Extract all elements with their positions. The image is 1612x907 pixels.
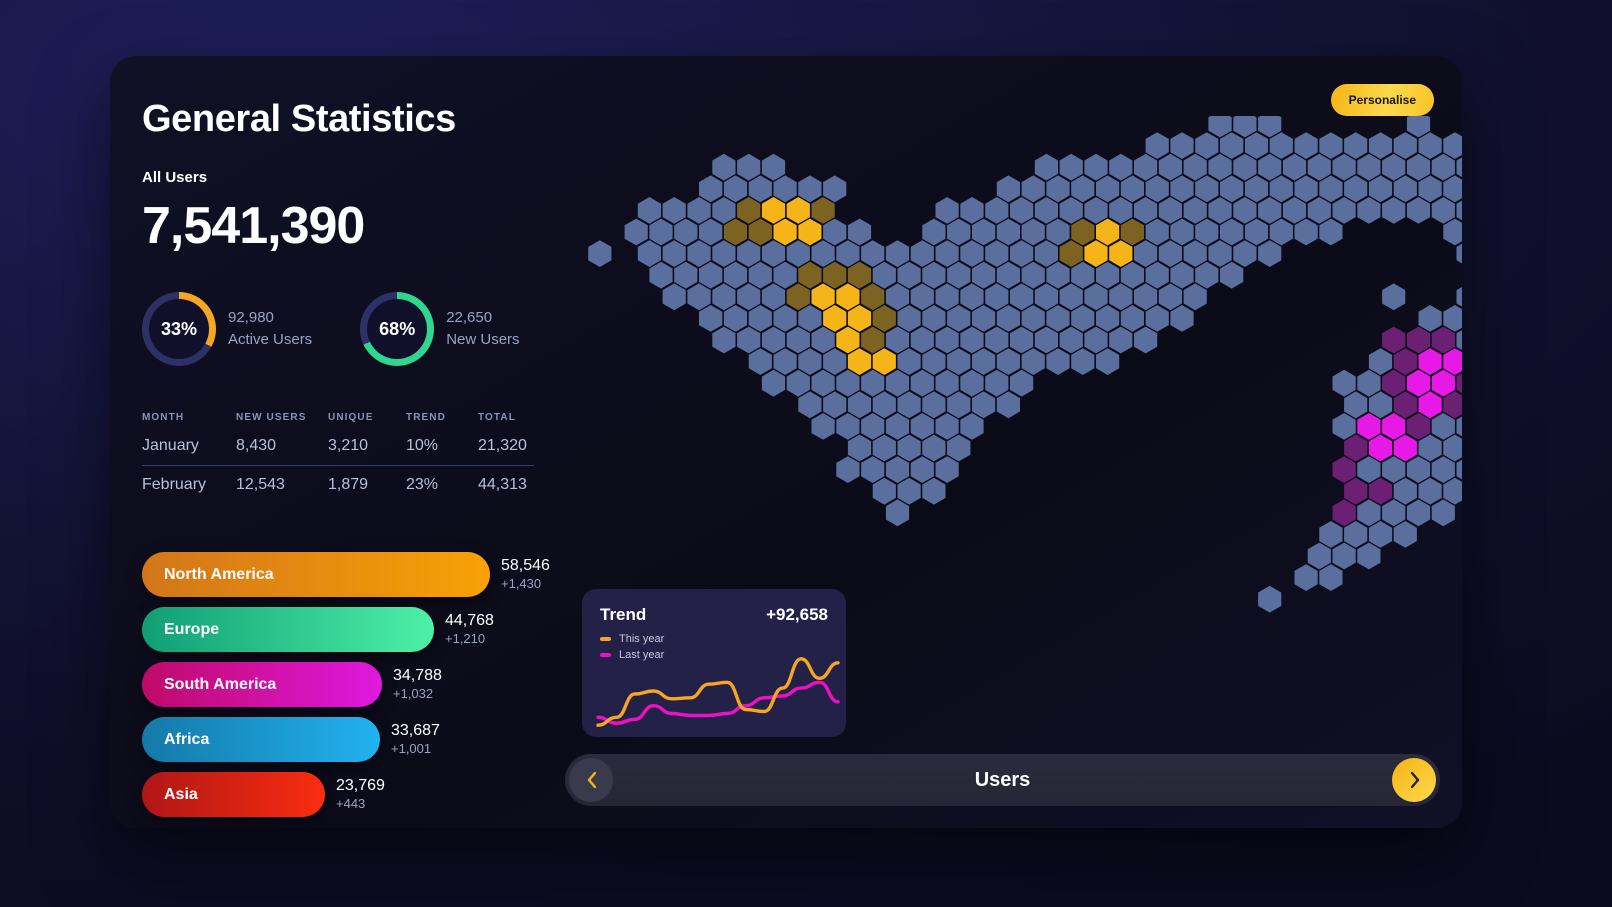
map-hex xyxy=(1084,283,1107,310)
map-hex xyxy=(947,348,970,375)
map-hex xyxy=(911,413,934,440)
map-hex xyxy=(1333,197,1356,224)
map-hex xyxy=(1010,370,1033,397)
map-hex xyxy=(960,283,983,310)
gauge-caption: New Users xyxy=(446,329,519,351)
map-hex xyxy=(1146,262,1169,289)
map-hex xyxy=(1357,154,1380,181)
map-hex xyxy=(1184,283,1207,310)
table-body: January8,4303,21010%21,320February12,543… xyxy=(142,432,534,499)
map-hex xyxy=(1443,175,1462,202)
map-hex xyxy=(1319,564,1342,591)
map-hex-highlight xyxy=(1333,456,1356,483)
map-hex xyxy=(1060,283,1083,310)
map-hex xyxy=(798,305,821,332)
map-hex xyxy=(936,197,959,224)
map-hex xyxy=(1382,154,1405,181)
map-hex xyxy=(1258,240,1281,267)
map-hex xyxy=(1170,262,1193,289)
map-hex xyxy=(798,175,821,202)
map-hex-highlight xyxy=(812,283,835,310)
map-hex xyxy=(1233,116,1256,137)
cell-month: January xyxy=(142,432,236,466)
map-hex-highlight xyxy=(1382,370,1405,397)
map-hex xyxy=(1357,499,1380,526)
map-hex-highlight xyxy=(873,348,896,375)
map-hex xyxy=(1010,327,1033,354)
region-delta: +1,210 xyxy=(445,631,494,647)
map-hex xyxy=(1333,154,1356,181)
map-hex xyxy=(848,219,871,246)
map-hex xyxy=(823,348,846,375)
map-hex xyxy=(873,435,896,462)
map-hex xyxy=(873,262,896,289)
map-hex xyxy=(724,262,747,289)
map-hex xyxy=(1208,116,1231,137)
map-hex xyxy=(1443,219,1462,246)
gauge-meta: 92,980Active Users xyxy=(228,307,312,351)
map-hex xyxy=(1344,391,1367,418)
map-hex-highlight xyxy=(1407,370,1430,397)
map-hex xyxy=(972,305,995,332)
map-hex xyxy=(1419,132,1442,159)
region-values: 34,788+1,032 xyxy=(393,666,442,702)
gauge-group: 33%92,980Active Users68%22,650New Users xyxy=(142,292,572,366)
map-hex xyxy=(625,219,648,246)
map-hex-highlight xyxy=(1071,219,1094,246)
map-hex xyxy=(1394,175,1417,202)
map-hex xyxy=(823,219,846,246)
map-hex xyxy=(1208,197,1231,224)
map-hex-highlight xyxy=(1109,240,1132,267)
map-hex xyxy=(1457,283,1463,310)
map-hex xyxy=(898,478,921,505)
map-hex xyxy=(873,391,896,418)
map-hex xyxy=(1344,521,1367,548)
gauge-new-users: 68%22,650New Users xyxy=(360,292,519,366)
region-bar: Asia xyxy=(142,772,325,817)
bottom-nav-bar: Users xyxy=(565,754,1440,806)
nav-next-button[interactable] xyxy=(1392,758,1436,802)
map-hex xyxy=(1233,197,1256,224)
map-hex xyxy=(997,348,1020,375)
region-total: 34,788 xyxy=(393,666,442,686)
map-hex xyxy=(836,240,859,267)
map-hex xyxy=(1109,197,1132,224)
region-row[interactable]: South America34,788+1,032 xyxy=(142,661,572,708)
gauge-percent-label: 33% xyxy=(161,319,197,340)
map-hex xyxy=(1457,240,1463,267)
map-hex xyxy=(1195,132,1218,159)
map-hex-highlight xyxy=(1084,240,1107,267)
cell-unique: 1,879 xyxy=(328,466,406,500)
map-hex xyxy=(1109,154,1132,181)
map-hex-highlight xyxy=(1060,240,1083,267)
map-hex xyxy=(1146,305,1169,332)
map-hex xyxy=(936,327,959,354)
map-hex-highlight xyxy=(1344,435,1367,462)
map-hex xyxy=(687,197,710,224)
map-hex xyxy=(1060,197,1083,224)
map-hex xyxy=(1022,175,1045,202)
map-hex xyxy=(798,348,821,375)
map-hex xyxy=(1195,175,1218,202)
map-hex-highlight xyxy=(1369,478,1392,505)
map-hex xyxy=(699,175,722,202)
map-hex-highlight xyxy=(1457,370,1463,397)
map-hex xyxy=(972,391,995,418)
map-hex-highlight xyxy=(1096,219,1119,246)
map-hex xyxy=(985,240,1008,267)
map-hex xyxy=(1270,175,1293,202)
map-hex xyxy=(1333,413,1356,440)
map-hex-highlight xyxy=(1394,435,1417,462)
map-hex xyxy=(1233,240,1256,267)
map-hex xyxy=(1382,197,1405,224)
map-hex xyxy=(1457,327,1463,354)
map-hex xyxy=(1096,348,1119,375)
cell-total: 44,313 xyxy=(478,466,534,500)
map-hex xyxy=(762,283,785,310)
map-hex xyxy=(1109,327,1132,354)
map-hex xyxy=(1071,262,1094,289)
map-hex xyxy=(1184,240,1207,267)
map-hex xyxy=(663,197,686,224)
map-hex xyxy=(588,240,611,267)
map-hex-highlight xyxy=(836,283,859,310)
table-row: February12,5431,87923%44,313 xyxy=(142,466,534,500)
map-hex-highlight xyxy=(812,197,835,224)
map-hex-highlight xyxy=(861,283,884,310)
map-hex xyxy=(1432,456,1455,483)
map-hex xyxy=(1071,175,1094,202)
map-hex xyxy=(1245,219,1268,246)
gauge-percent-label: 68% xyxy=(379,319,415,340)
map-hex xyxy=(749,348,772,375)
map-hex xyxy=(687,240,710,267)
map-hex-highlight xyxy=(1432,327,1455,354)
map-hex xyxy=(1184,197,1207,224)
map-hex xyxy=(1134,283,1157,310)
map-hex xyxy=(1134,197,1157,224)
map-hex xyxy=(898,348,921,375)
map-hex xyxy=(1308,197,1331,224)
map-hex xyxy=(687,283,710,310)
all-users-value: 7,541,390 xyxy=(142,196,572,256)
map-hex-highlight xyxy=(861,327,884,354)
map-hex xyxy=(911,327,934,354)
map-hex xyxy=(1245,175,1268,202)
map-hex xyxy=(1195,262,1218,289)
map-hex xyxy=(1407,499,1430,526)
map-hex xyxy=(1084,154,1107,181)
gauge-active-users: 33%92,980Active Users xyxy=(142,292,312,366)
region-bar: Africa xyxy=(142,717,380,762)
region-delta: +1,430 xyxy=(501,576,550,592)
map-hex xyxy=(922,391,945,418)
map-hex xyxy=(1245,132,1268,159)
map-hex xyxy=(1022,348,1045,375)
map-hex-highlight xyxy=(749,219,772,246)
map-hex xyxy=(922,435,945,462)
nav-prev-button[interactable] xyxy=(569,758,613,802)
map-hex xyxy=(997,305,1020,332)
map-hex-highlight xyxy=(823,305,846,332)
region-values: 44,768+1,210 xyxy=(445,611,494,647)
map-hex xyxy=(898,262,921,289)
map-hex xyxy=(812,413,835,440)
trend-line-last-year xyxy=(598,682,838,723)
map-hex xyxy=(873,478,896,505)
map-hex xyxy=(922,478,945,505)
map-hex xyxy=(649,219,672,246)
map-hex xyxy=(1170,219,1193,246)
bottom-nav-title: Users xyxy=(975,769,1031,792)
map-hex-highlight xyxy=(836,327,859,354)
map-hex xyxy=(1419,305,1442,332)
map-hex xyxy=(1382,456,1405,483)
map-hex xyxy=(911,240,934,267)
map-hex xyxy=(1170,305,1193,332)
map-hex-highlight xyxy=(1432,370,1455,397)
cell-trend: 23% xyxy=(406,466,478,500)
cell-new-users: 8,430 xyxy=(236,432,328,466)
map-hex xyxy=(1046,219,1069,246)
gauge-meta: 22,650New Users xyxy=(446,307,519,351)
map-hex xyxy=(774,262,797,289)
map-hex xyxy=(1443,305,1462,332)
map-hex xyxy=(1419,435,1442,462)
map-hex xyxy=(674,219,697,246)
map-hex xyxy=(812,240,835,267)
map-hex-highlight xyxy=(1407,327,1430,354)
map-hex-highlight xyxy=(1344,478,1367,505)
map-hex xyxy=(774,175,797,202)
map-hex xyxy=(1159,283,1182,310)
map-hex xyxy=(699,219,722,246)
map-hex xyxy=(960,370,983,397)
map-hex-highlight xyxy=(1443,391,1462,418)
map-hex xyxy=(898,391,921,418)
map-hex xyxy=(922,219,945,246)
map-hex xyxy=(922,262,945,289)
map-hex xyxy=(787,327,810,354)
map-hex xyxy=(997,391,1020,418)
map-hex xyxy=(1295,132,1318,159)
map-hex xyxy=(947,391,970,418)
map-hex xyxy=(1432,154,1455,181)
map-hex xyxy=(1184,154,1207,181)
map-hex-highlight xyxy=(823,262,846,289)
map-hex xyxy=(1369,348,1392,375)
map-hex xyxy=(663,283,686,310)
map-hex xyxy=(836,456,859,483)
map-hex xyxy=(886,283,909,310)
map-hex xyxy=(774,348,797,375)
map-hex xyxy=(1258,154,1281,181)
map-hex xyxy=(947,219,970,246)
map-hex xyxy=(1220,262,1243,289)
map-hex xyxy=(1419,478,1442,505)
map-hex xyxy=(936,283,959,310)
map-hex xyxy=(960,327,983,354)
map-hex-highlight xyxy=(873,305,896,332)
map-hex xyxy=(1457,154,1463,181)
region-bar: Europe xyxy=(142,607,434,652)
map-hex xyxy=(1010,283,1033,310)
map-hex xyxy=(712,327,735,354)
map-hex xyxy=(1096,305,1119,332)
region-bar-chart: North America58,546+1,430Europe44,768+1,… xyxy=(142,551,572,818)
map-hex xyxy=(1319,132,1342,159)
map-hex xyxy=(1022,262,1045,289)
region-row[interactable]: Africa33,687+1,001 xyxy=(142,716,572,763)
region-delta: +443 xyxy=(336,796,385,812)
map-hex xyxy=(836,370,859,397)
map-hex xyxy=(1357,197,1380,224)
map-hex xyxy=(1035,154,1058,181)
region-total: 23,769 xyxy=(336,776,385,796)
map-hex xyxy=(1457,456,1463,483)
column-header: TOTAL xyxy=(478,412,534,432)
map-hex xyxy=(898,435,921,462)
map-hex xyxy=(1394,132,1417,159)
map-hex xyxy=(911,456,934,483)
map-hex xyxy=(1308,543,1331,570)
map-hex xyxy=(823,175,846,202)
personalise-button[interactable]: Personalise xyxy=(1331,84,1434,116)
map-hex xyxy=(985,327,1008,354)
map-hex xyxy=(960,413,983,440)
cell-total: 21,320 xyxy=(478,432,534,466)
map-hex xyxy=(724,175,747,202)
map-hex xyxy=(960,240,983,267)
map-hex xyxy=(674,262,697,289)
map-hex xyxy=(836,413,859,440)
gauge-ring: 33% xyxy=(142,292,216,366)
cell-unique: 3,210 xyxy=(328,432,406,466)
map-hex xyxy=(1394,478,1417,505)
map-hex xyxy=(1096,175,1119,202)
map-hex xyxy=(1457,197,1463,224)
map-hex xyxy=(812,327,835,354)
cell-trend: 10% xyxy=(406,432,478,466)
map-hex xyxy=(1071,348,1094,375)
map-hex-highlight xyxy=(848,262,871,289)
map-hex xyxy=(947,305,970,332)
map-hex xyxy=(1258,586,1281,613)
region-row[interactable]: Europe44,768+1,210 xyxy=(142,606,572,653)
region-values: 23,769+443 xyxy=(336,776,385,812)
map-hex-highlight xyxy=(762,197,785,224)
map-hex xyxy=(947,435,970,462)
map-hex-highlight xyxy=(1382,413,1405,440)
map-hex xyxy=(1060,327,1083,354)
map-hex xyxy=(1295,219,1318,246)
map-hex xyxy=(1407,456,1430,483)
map-hex xyxy=(737,154,760,181)
map-hex xyxy=(1283,154,1306,181)
map-hex xyxy=(1010,240,1033,267)
map-hex-highlight xyxy=(1333,499,1356,526)
map-hex xyxy=(712,154,735,181)
monthly-stats-table: MONTHNEW USERSUNIQUETRENDTOTAL January8,… xyxy=(142,412,534,499)
map-hex xyxy=(749,305,772,332)
map-hex xyxy=(947,262,970,289)
map-hex xyxy=(1443,132,1462,159)
map-hex xyxy=(1443,478,1462,505)
map-hex xyxy=(712,283,735,310)
map-hex xyxy=(749,262,772,289)
map-hex xyxy=(1270,219,1293,246)
map-hex xyxy=(1022,219,1045,246)
map-hex xyxy=(886,456,909,483)
map-hex xyxy=(985,197,1008,224)
map-hex xyxy=(1096,262,1119,289)
map-hex xyxy=(1369,521,1392,548)
map-hex-highlight xyxy=(798,219,821,246)
map-hex xyxy=(1319,219,1342,246)
map-hex xyxy=(1010,197,1033,224)
map-hex xyxy=(1419,175,1442,202)
map-hex xyxy=(886,370,909,397)
map-hex xyxy=(886,240,909,267)
map-hex xyxy=(1394,521,1417,548)
map-hex xyxy=(985,283,1008,310)
map-hex xyxy=(1357,456,1380,483)
map-hex xyxy=(1159,154,1182,181)
map-hex xyxy=(1344,132,1367,159)
map-hex xyxy=(699,262,722,289)
map-hex xyxy=(1121,175,1144,202)
region-values: 58,546+1,430 xyxy=(501,556,550,592)
map-hex xyxy=(749,175,772,202)
map-hex xyxy=(1357,543,1380,570)
map-hex-highlight xyxy=(1382,327,1405,354)
map-hex-highlight xyxy=(848,305,871,332)
map-hex xyxy=(972,219,995,246)
map-hex xyxy=(886,499,909,526)
map-hex xyxy=(1220,132,1243,159)
region-row[interactable]: Asia23,769+443 xyxy=(142,771,572,818)
map-hex-highlight xyxy=(848,348,871,375)
map-hex-highlight xyxy=(787,283,810,310)
map-hex xyxy=(1146,175,1169,202)
map-hex xyxy=(1035,283,1058,310)
gauge-caption: Active Users xyxy=(228,329,312,351)
table-row: January8,4303,21010%21,320 xyxy=(142,432,534,466)
map-hex xyxy=(762,240,785,267)
map-hex xyxy=(848,391,871,418)
region-row[interactable]: North America58,546+1,430 xyxy=(142,551,572,598)
map-hex xyxy=(1022,305,1045,332)
map-hex xyxy=(1233,154,1256,181)
map-hex xyxy=(972,262,995,289)
map-hex xyxy=(1407,116,1430,137)
column-header: NEW USERS xyxy=(236,412,328,432)
map-hex xyxy=(1457,413,1463,440)
map-hex xyxy=(1432,499,1455,526)
map-hex xyxy=(1121,262,1144,289)
map-hex xyxy=(997,219,1020,246)
map-hex xyxy=(1319,175,1342,202)
map-hex xyxy=(886,327,909,354)
map-hex-highlight xyxy=(1419,391,1442,418)
map-hex xyxy=(1195,219,1218,246)
cell-new-users: 12,543 xyxy=(236,466,328,500)
map-hex xyxy=(812,370,835,397)
map-hex xyxy=(712,197,735,224)
